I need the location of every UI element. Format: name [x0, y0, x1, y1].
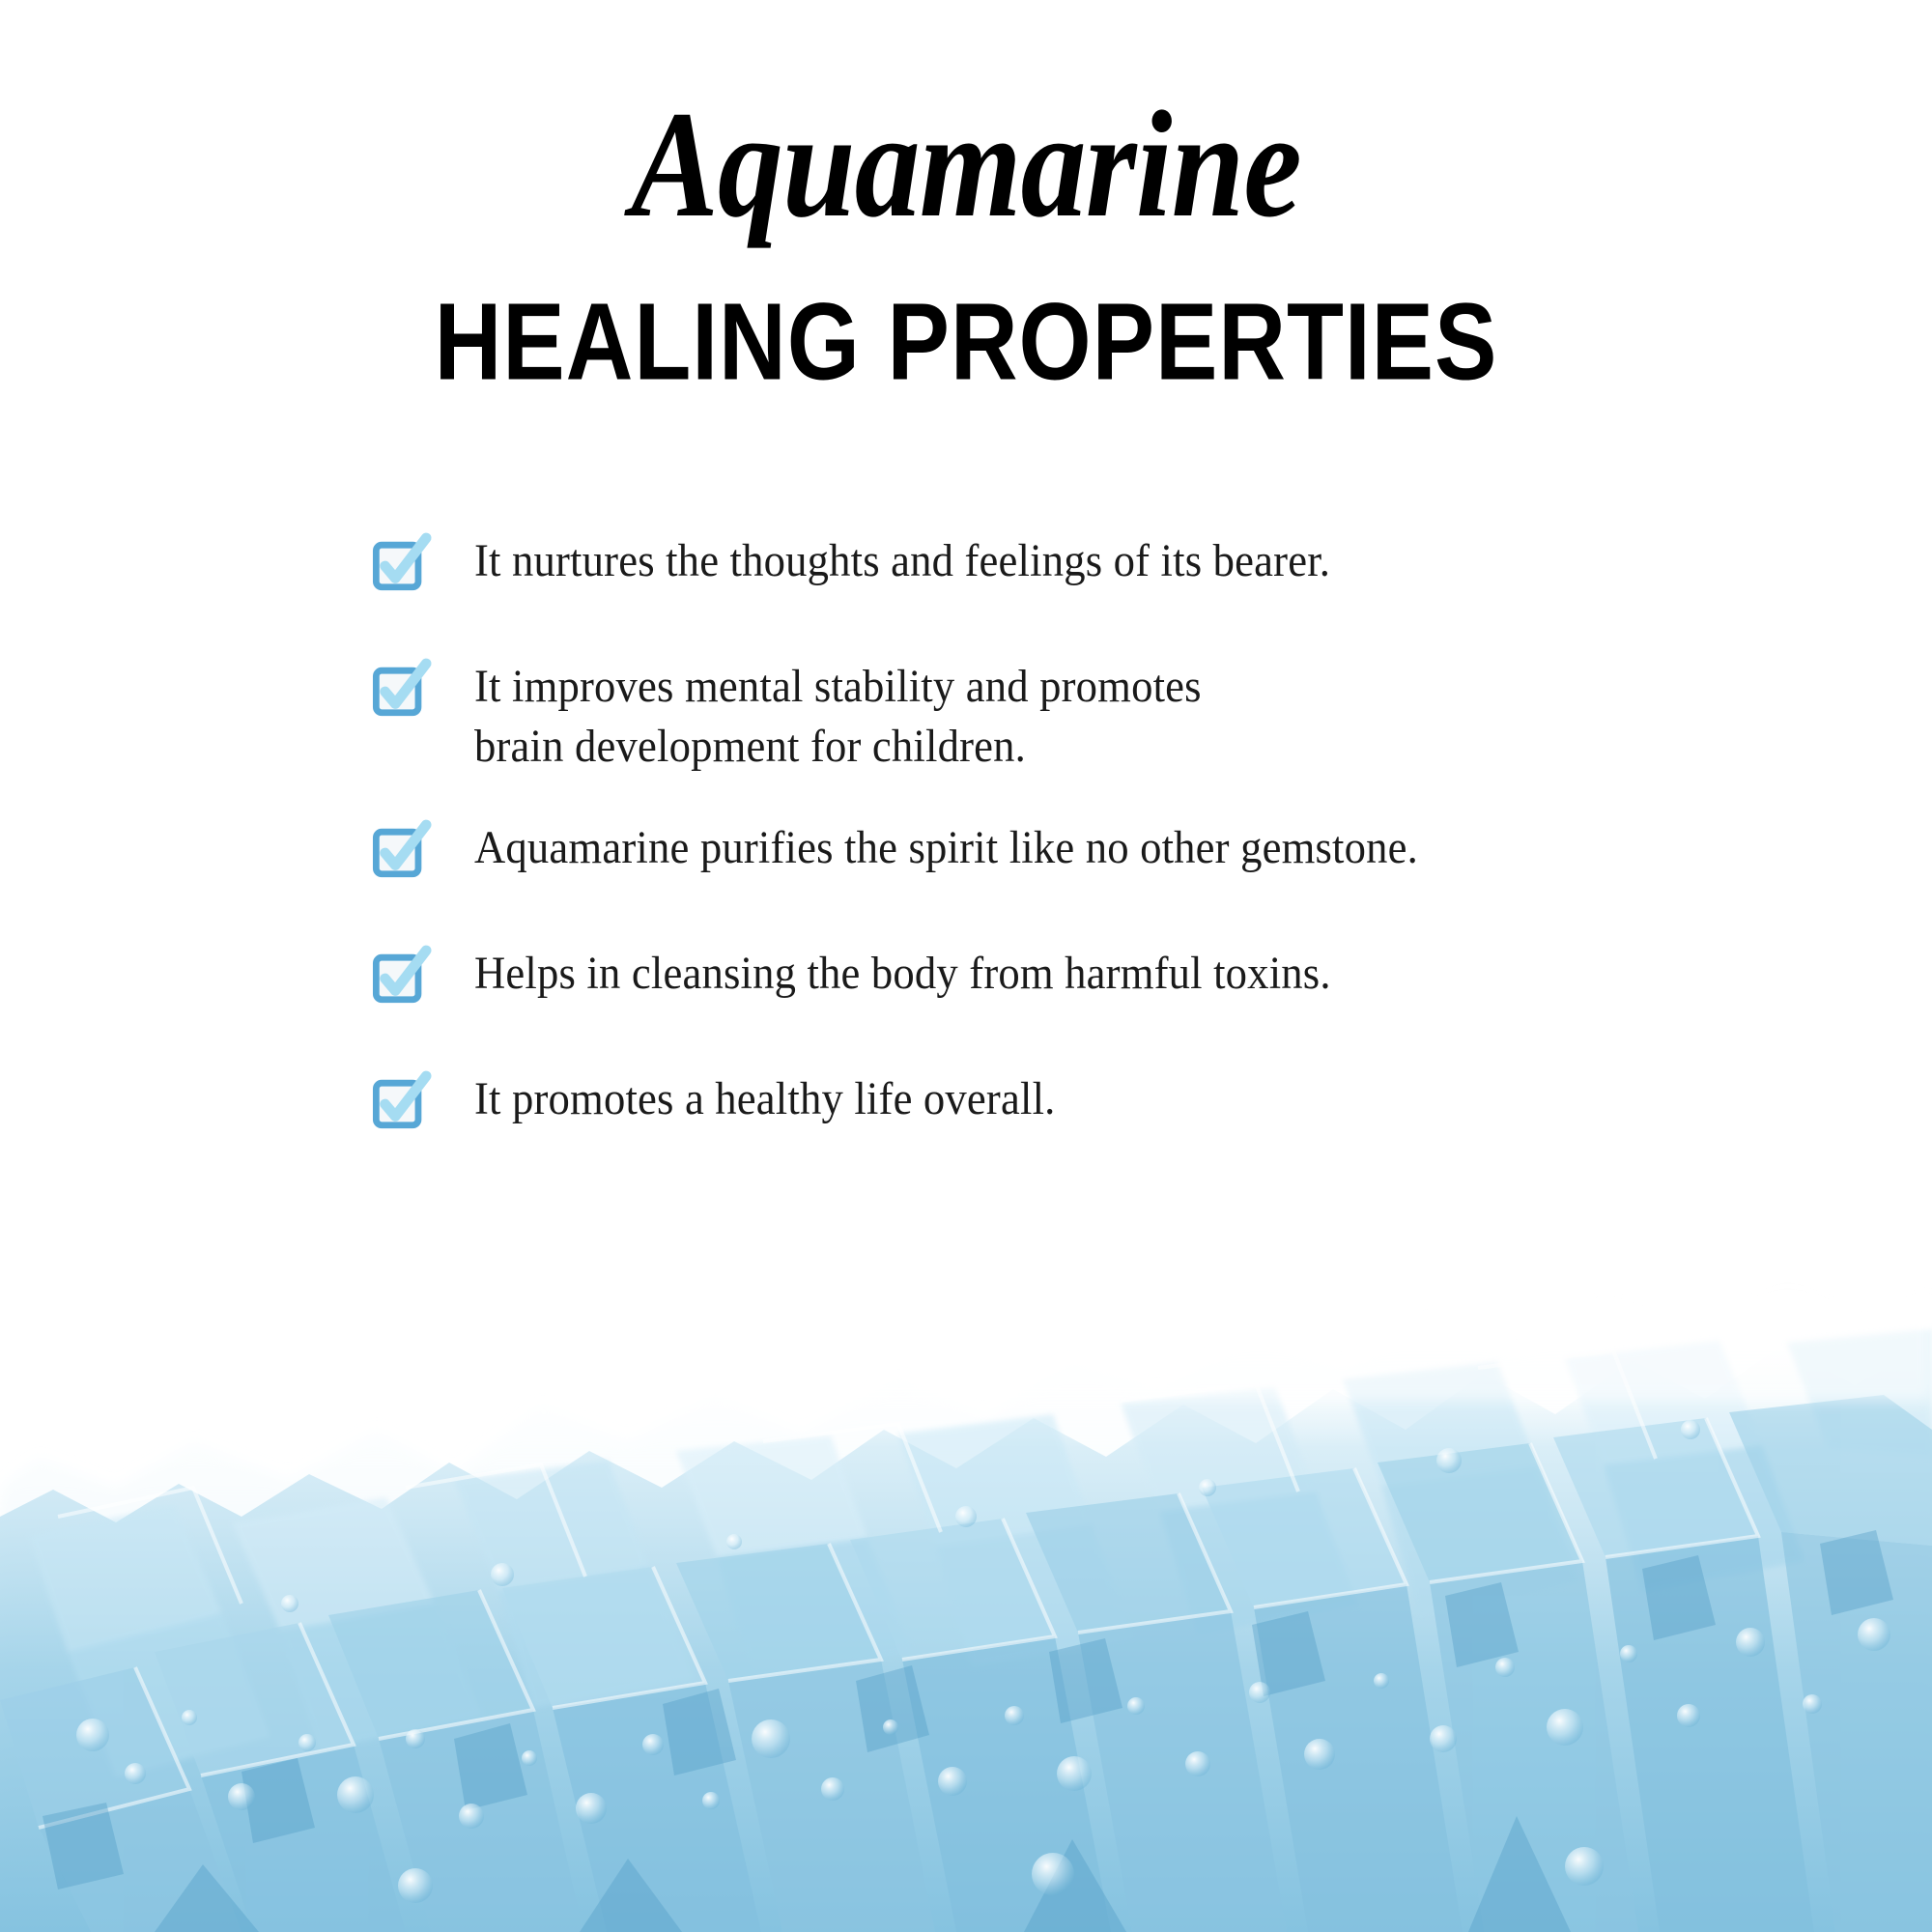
list-item: Helps in cleansing the body from harmful… [372, 942, 1802, 1008]
list-item-label: Helps in cleansing the body from harmful… [474, 942, 1331, 1004]
checkbox-checked-icon [372, 661, 432, 721]
list-item: Aquamarine purifies the spirit like no o… [372, 816, 1802, 882]
checkbox-checked-icon [372, 822, 432, 882]
page-subtitle: HEALING PROPERTIES [77, 241, 1855, 397]
list-item: It nurtures the thoughts and feelings of… [372, 529, 1802, 595]
ice-cubes-photo [0, 1198, 1932, 1932]
infographic-canvas: Aquamarine HEALING PROPERTIES It nurture… [0, 0, 1932, 1932]
healing-properties-list: It nurtures the thoughts and feelings of… [372, 529, 1802, 1183]
page-title: Aquamarine [135, 0, 1797, 241]
header-block: Aquamarine HEALING PROPERTIES [0, 0, 1932, 385]
checkbox-checked-icon [372, 535, 432, 595]
list-item-label: It nurtures the thoughts and feelings of… [474, 529, 1330, 591]
checkbox-checked-icon [372, 1073, 432, 1133]
list-item-label: Aquamarine purifies the spirit like no o… [474, 816, 1418, 878]
list-item: It improves mental stability and promote… [372, 655, 1802, 778]
list-item: It promotes a healthy life overall. [372, 1067, 1802, 1133]
list-item-label: It improves mental stability and promote… [474, 655, 1202, 778]
checkbox-checked-icon [372, 948, 432, 1008]
list-item-label: It promotes a healthy life overall. [474, 1067, 1056, 1129]
